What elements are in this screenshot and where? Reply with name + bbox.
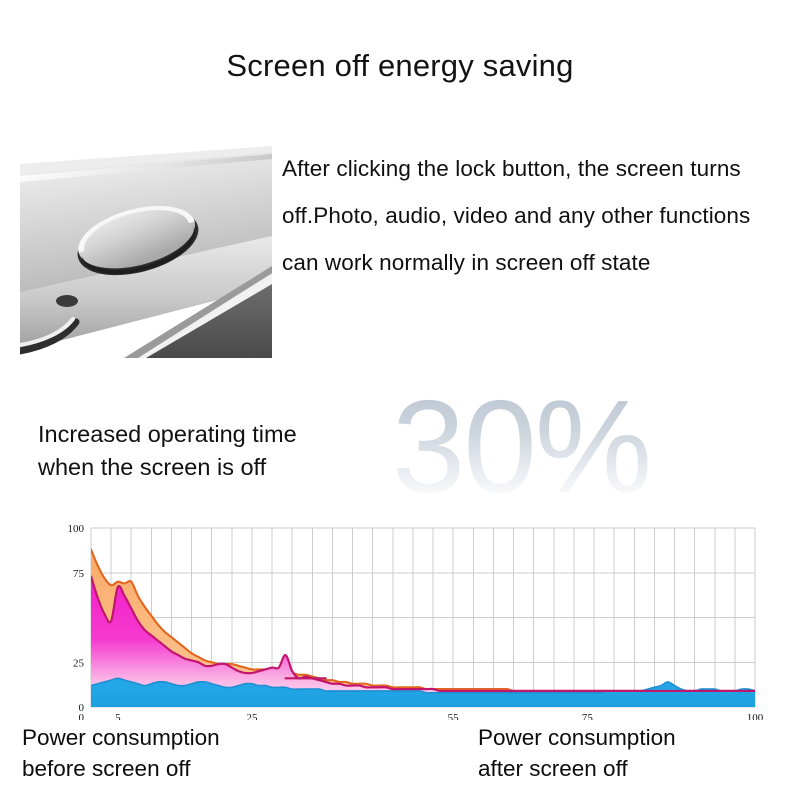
caption-before-screen-off: Power consumption before screen off bbox=[22, 722, 220, 784]
device-pinhole bbox=[56, 295, 78, 307]
hero-paragraph: After clicking the lock button, the scre… bbox=[282, 145, 782, 286]
x-tick-55: 55 bbox=[448, 712, 460, 720]
section-heading: Increased operating time when the screen… bbox=[38, 418, 297, 484]
watermark-30-percent: 30% bbox=[392, 381, 650, 513]
chart-svg: 0257510052555751000 bbox=[58, 515, 764, 720]
page-title: Screen off energy saving bbox=[0, 48, 800, 84]
x-tick-75: 75 bbox=[582, 712, 594, 720]
x-tick-5: 5 bbox=[115, 712, 121, 720]
x-tick-100: 100 bbox=[747, 712, 764, 720]
caption-after-screen-off: Power consumption after screen off bbox=[478, 722, 676, 784]
y-tick-25: 25 bbox=[73, 657, 85, 669]
y-tick-100: 100 bbox=[68, 523, 85, 535]
y-tick-75: 75 bbox=[73, 568, 85, 580]
lock-button-illustration bbox=[20, 146, 272, 358]
x-origin-label: 0 bbox=[79, 712, 85, 720]
lock-button-photo bbox=[20, 146, 272, 358]
x-tick-25: 25 bbox=[246, 712, 258, 720]
power-consumption-chart: 0257510052555751000 bbox=[58, 515, 764, 720]
page-root: Screen off energy saving bbox=[0, 0, 800, 800]
